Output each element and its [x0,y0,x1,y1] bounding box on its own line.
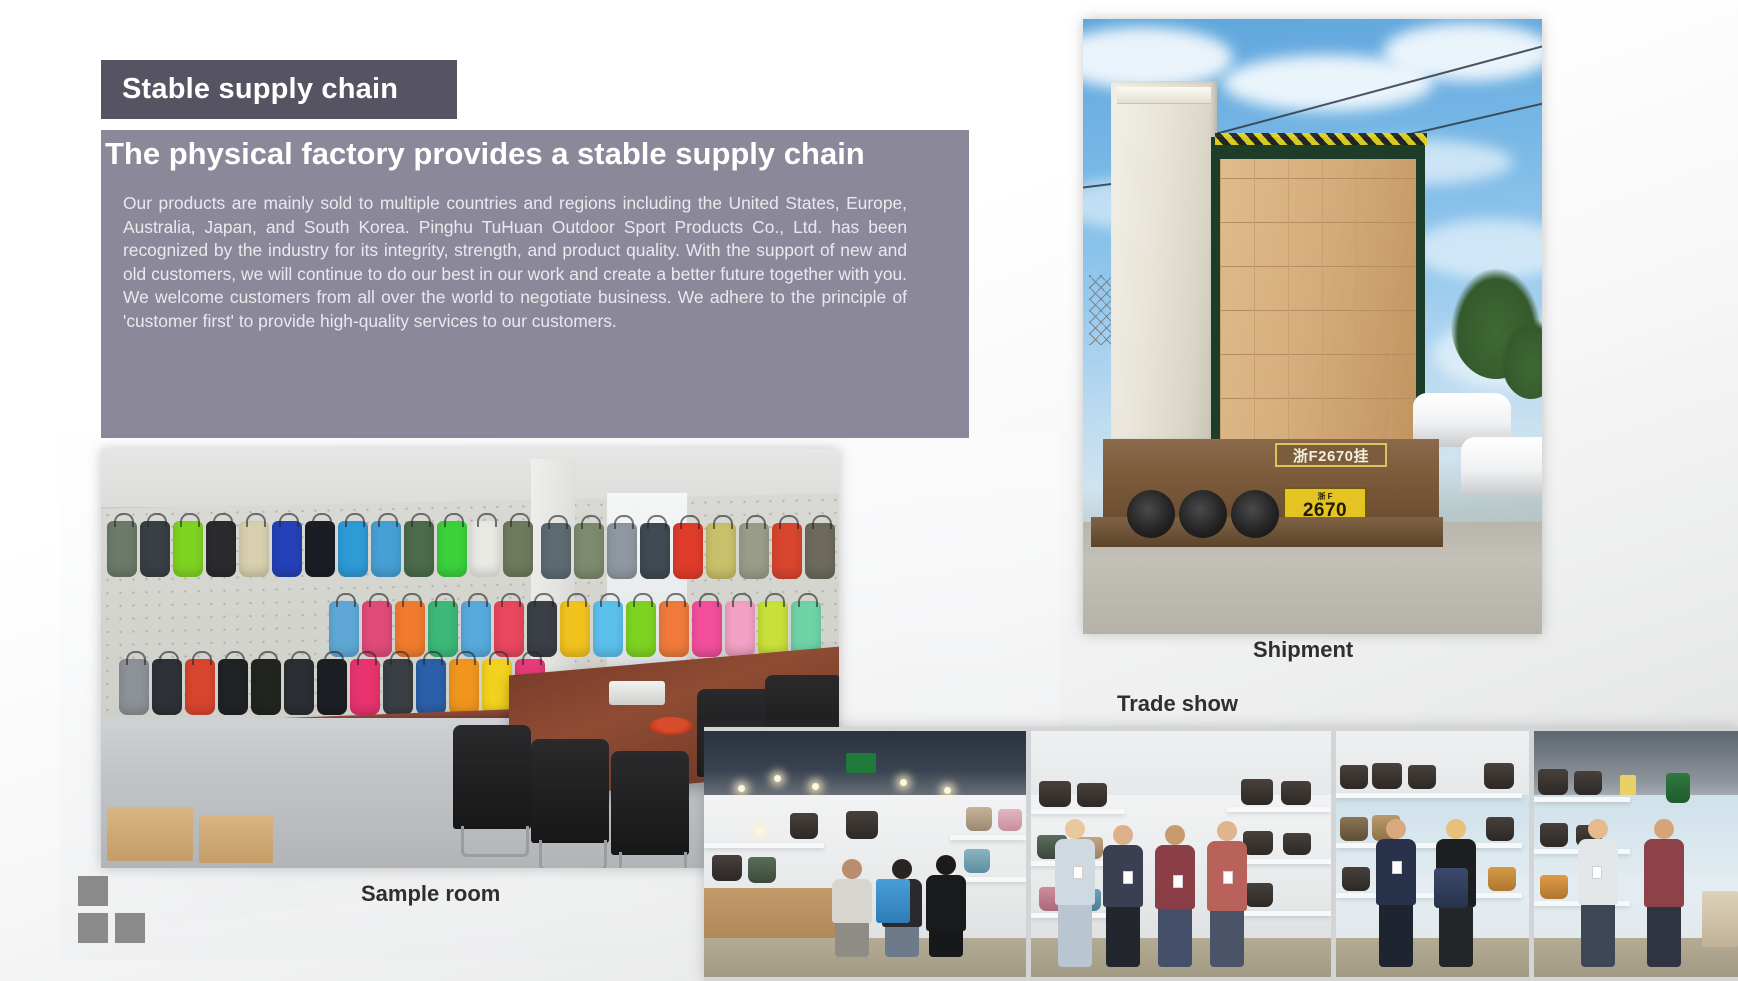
bag-row-top [107,521,533,577]
panel-body-paragraph: Our products are mainly sold to multiple… [123,192,907,334]
display-handbag [1408,765,1436,789]
attendee [1207,821,1247,967]
visitor-legs [835,923,869,957]
display-handbag [1574,771,1602,795]
dry-bag [140,521,170,577]
wall-shelf [1336,843,1522,848]
decorative-square [78,876,108,906]
wall-shelf [1336,793,1522,798]
slide-canvas: Stable supply chain The physical factory… [0,0,1738,981]
attendee-legs [1647,907,1681,967]
display-handbag [1077,783,1107,807]
visitor [832,859,872,957]
container-door-panel [1111,81,1217,441]
spot-light [774,775,781,782]
display-handbag [1245,883,1273,907]
display-handbag [1340,765,1368,789]
visitor-head [892,859,912,879]
dry-bag [574,523,604,579]
badge-card [1173,875,1183,888]
exit-sign-icon [846,753,876,773]
attendee-head [1654,819,1674,839]
dry-bag [173,521,203,577]
attendee-head [1065,819,1085,839]
display-handbag [1372,763,1402,789]
attendee-legs [1210,911,1244,967]
attendee [1644,819,1684,967]
display-handbag [846,811,878,839]
stacked-goods [199,815,273,863]
shopping-tote [876,879,910,923]
truck-wheel [1179,490,1227,538]
kicker-label: Stable supply chain [122,73,398,106]
badge-card [1073,866,1083,879]
dry-bag [119,659,149,715]
dry-bag [449,659,479,715]
dry-bag [338,521,368,577]
dry-bag [640,523,670,579]
dry-bag [107,521,137,577]
attendee-legs [1106,907,1140,967]
photo-trade-show-3 [1336,731,1529,977]
wall-shelf [1534,797,1630,802]
wall-shelf [1235,911,1331,916]
attendee-head [1165,825,1185,845]
wall-shelf [950,835,1026,840]
badge-card [1392,861,1402,874]
attendee-head [1588,819,1608,839]
spot-light [812,783,819,790]
kicker-banner: Stable supply chain [101,60,457,119]
decorative-square [78,913,108,943]
display-handbag [1484,763,1514,789]
display-handbag [1540,875,1568,899]
dry-bag [239,521,269,577]
dry-bag [305,521,335,577]
display-handbag [1283,833,1311,855]
projector [609,681,665,705]
dry-bag [284,659,314,715]
visitor [926,855,966,957]
hazard-stripe [1215,133,1427,145]
dry-bag [560,601,590,657]
fruit-bowl [649,717,693,735]
dry-bag [416,659,446,715]
attendee-legs [1439,907,1473,967]
visitor-head [842,859,862,879]
dry-bag [805,523,835,579]
spot-light [900,779,907,786]
dry-bag [362,601,392,657]
attendee-legs [1058,905,1092,967]
sample-bag [1434,868,1468,908]
dry-bag [482,659,512,715]
dry-bag [659,601,689,657]
attendee-head [1217,821,1237,841]
caption-shipment: Shipment [1253,637,1353,663]
dry-bag [626,601,656,657]
raised-sample [1620,775,1636,795]
truck-wheel [1231,490,1279,538]
wall-shelf [1336,893,1522,898]
display-handbag [1540,823,1568,847]
panel-title: The physical factory provides a stable s… [101,136,969,172]
photo-trade-show-2 [1031,731,1331,977]
photo-shipment: 浙F2670挂 浙 F 2670 [1083,19,1542,634]
parked-car [1461,437,1542,495]
booth-floor [1336,938,1529,977]
dry-bag [251,659,281,715]
dry-bag [706,523,736,579]
display-handbag [1241,779,1273,805]
license-plate-upper: 浙F2670挂 [1275,443,1387,467]
photo-trade-show-4 [1534,731,1738,977]
dry-bag [739,523,769,579]
dry-bag [494,601,524,657]
dry-bag [673,523,703,579]
display-handbag [998,809,1022,831]
attendee-legs [1379,905,1413,967]
dry-bag [503,521,533,577]
display-handbag [1039,781,1071,807]
display-handbag [1488,867,1516,891]
attendee-head [1446,819,1466,839]
dry-bag [527,601,557,657]
display-handbag [964,849,990,873]
caption-trade-show: Trade show [1117,691,1238,717]
visitor-body [926,875,966,931]
container-body [1211,137,1425,443]
display-handbag [1281,781,1311,805]
dry-bag [383,659,413,715]
attendee-legs [1158,909,1192,967]
office-chair [531,739,609,843]
display-handbag [1538,769,1568,795]
bag-row-third [119,659,545,715]
dry-bag [371,521,401,577]
attendee-head [1386,819,1406,839]
attendee [1376,819,1416,967]
dry-bag [395,601,425,657]
display-handbag [748,857,776,883]
dry-bag [541,523,571,579]
dry-bag [152,659,182,715]
attendee [1578,819,1618,967]
badge-card [1123,871,1133,884]
dry-bag [470,521,500,577]
dry-bag [758,601,788,657]
supply-chain-text-panel: The physical factory provides a stable s… [101,130,969,438]
badge-card [1223,871,1233,884]
bag-row-middle [329,601,821,657]
dry-bag [329,601,359,657]
dry-bag [428,601,458,657]
cardboard-cartons [1220,159,1416,443]
office-chair [611,751,689,855]
truck-wheel [1127,490,1175,538]
visitor-legs [929,931,963,957]
attendee-head [1113,825,1133,845]
stacked-goods [107,807,193,861]
paper-bag [1702,891,1738,947]
dry-bag [185,659,215,715]
dry-bag [206,521,236,577]
decorative-square [115,913,145,943]
attendee [1103,825,1143,967]
dry-bag [272,521,302,577]
attendee [1055,819,1095,967]
spot-light [738,785,745,792]
display-handbag [790,813,818,839]
visitor-body [832,879,872,923]
badge-card [1592,866,1602,879]
dry-bag [461,601,491,657]
display-handbag [1486,817,1514,841]
display-handbag [1243,831,1273,855]
wall-shelf [1227,807,1331,812]
wall-shelf [704,843,824,848]
dry-bag [692,601,722,657]
transmission-tower [1089,275,1113,345]
display-handbag [1340,817,1368,841]
display-handbag [1342,867,1370,891]
attendee [1155,825,1195,967]
wall-shelf [1031,809,1125,814]
spot-light [756,827,763,834]
visitor-head [936,855,956,875]
visitor-legs [885,927,919,957]
display-banner [1666,773,1690,803]
display-handbag [966,807,992,831]
trade-show-photo-strip [704,727,1738,981]
attendee-legs [1581,905,1615,967]
dry-bag [404,521,434,577]
dry-bag [772,523,802,579]
attendee-body [1644,839,1684,907]
dry-bag [218,659,248,715]
dry-bag [350,659,380,715]
dry-bag [725,601,755,657]
office-chair [453,725,531,829]
display-handbag [712,855,742,881]
photo-trade-show-1 [704,731,1026,977]
dry-bag [317,659,347,715]
dry-bag [607,523,637,579]
bag-row-top-right [541,523,835,579]
dry-bag [593,601,623,657]
spot-light [944,787,951,794]
dry-bag [437,521,467,577]
caption-sample-room: Sample room [361,881,500,907]
